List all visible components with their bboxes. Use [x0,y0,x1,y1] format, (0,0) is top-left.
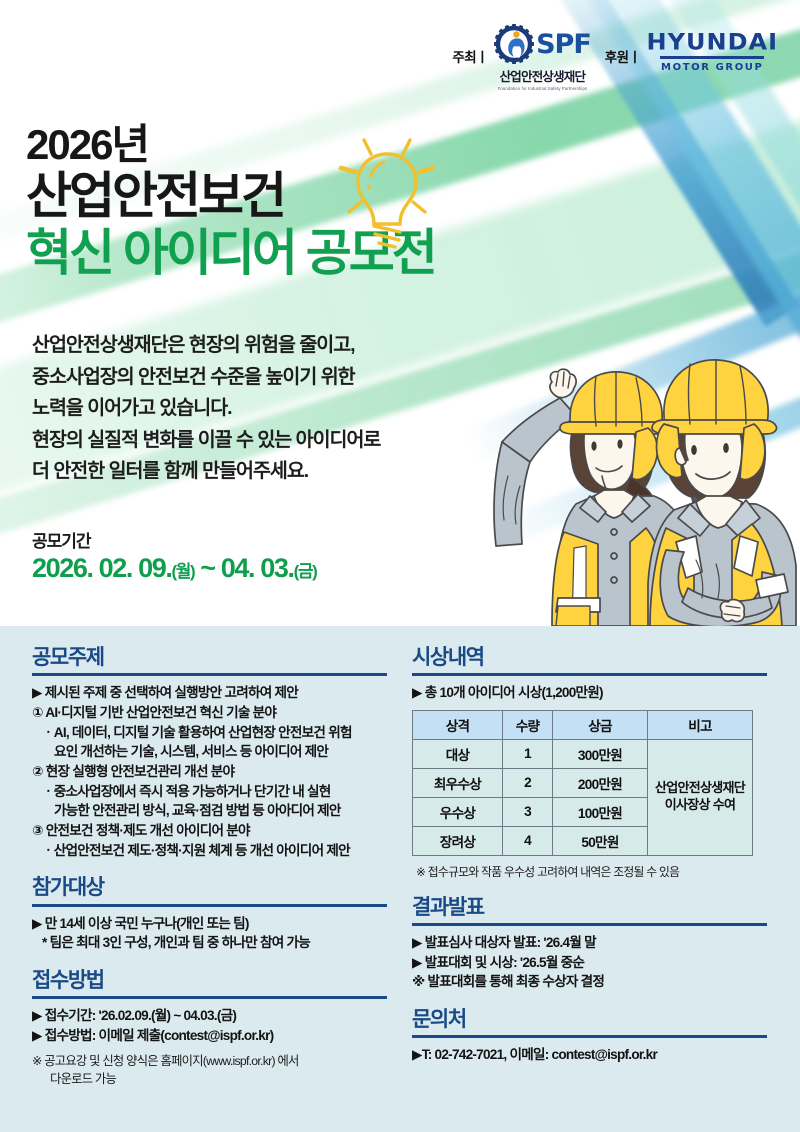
section-results-body: ▶ 발표심사 대상자 발표: '26.4월 말 ▶ 발표대회 및 시상: '26… [412,933,774,992]
section-contact-rule [412,1035,767,1038]
section-application-rule [32,996,387,999]
ispf-person-figure [508,31,524,57]
hyundai-rule [660,56,764,59]
section-contact-heading: 문의처 [412,1008,774,1031]
hyundai-subtitle: MOTOR GROUP [661,62,763,73]
topic-item-1: ① AI·디지털 기반 산업안전보건 혁신 기술 분야 [32,703,392,723]
eligibility-line-2: * 팀은 최대 3인 구성, 개인과 팀 중 하나만 참여 가능 [32,933,392,953]
topic-item-1-sub-2: 요인 개선하는 기술, 시스템, 서비스 등 아이디어 제안 [32,742,392,762]
section-contact: 문의처 ▶T: 02-742-7021, 이메일: contest@ispf.o… [412,1008,774,1065]
section-eligibility-heading: 참가대상 [32,876,392,899]
prize-col-amount: 상금 [553,710,648,739]
period-start-dow: (월) [171,562,194,581]
lead-line-2: 중소사업장의 안전보건 수준을 높이기 위한 [32,362,380,394]
sponsor-logo-group: 후원ㅣ HYUNDAI MOTOR GROUP [605,24,778,73]
hyundai-logo: HYUNDAI MOTOR GROUP [647,24,778,73]
period-start: 2026. 02. 09. [32,553,171,583]
prize-count-4: 4 [503,826,553,855]
prize-grade-3: 우수상 [413,797,503,826]
lead-line-5: 더 안전한 일터를 함께 만들어주세요. [32,456,380,488]
lead-line-3: 노력을 이어가고 있습니다. [32,393,380,425]
eligibility-line-1: ▶ 만 14세 이상 국민 누구나(개인 또는 팀) [32,914,392,934]
section-results: 결과발표 ▶ 발표심사 대상자 발표: '26.4월 말 ▶ 발표대회 및 시상… [412,896,774,992]
section-application-heading: 접수방법 [32,969,392,992]
results-line-3: ※ 발표대회를 통해 최종 수상자 결정 [412,972,774,992]
section-results-heading: 결과발표 [412,896,774,919]
ispf-english-name: Foundation for Industrial Safety Partner… [498,86,588,91]
period-end: 04. 03. [221,553,294,583]
period-date: 2026. 02. 09.(월) ~ 04. 03.(금) [32,553,316,584]
section-topic: 공모주제 ▶ 제시된 주제 중 선택하여 실행방안 고려하여 제안 ① AI·디… [32,646,392,860]
period-tilde: ~ [194,553,221,583]
prize-remark-line-2: 이사장상 수여 [650,797,750,814]
section-eligibility-body: ▶ 만 14세 이상 국민 누구나(개인 또는 팀) * 팀은 최대 3인 구성… [32,914,392,953]
host-logo-group: 주최ㅣ [452,24,590,91]
prize-amount-2: 200만원 [553,768,648,797]
prize-table: 상격 수량 상금 비고 대상 1 300만원 산업안전상생재단 [412,710,753,856]
prize-remark-cell: 산업안전상생재단 이사장상 수여 [648,739,753,855]
topic-item-2-sub-2: 가능한 안전관리 방식, 교육·점검 방법 등 아아디어 제안 [32,801,392,821]
period-end-dow: (금) [294,562,317,581]
prize-col-grade: 상격 [413,710,503,739]
section-application: 접수방법 ▶ 접수기간: '26.02.09.(월) ~ 04.03.(금) ▶… [32,969,392,1088]
section-awards-heading: 시상내역 [412,646,774,669]
lead-paragraph: 산업안전상생재단은 현장의 위험을 줄이고, 중소사업장의 안전보건 수준을 높… [32,330,380,488]
info-column-left: 공모주제 ▶ 제시된 주제 중 선택하여 실행방안 고려하여 제안 ① AI·디… [32,646,392,1088]
prize-count-1: 1 [503,739,553,768]
sponsor-label: 후원ㅣ [605,24,641,66]
section-awards-rule [412,673,767,676]
two-workers-illustration [490,336,800,626]
logo-bar: 주최ㅣ [452,24,778,91]
topic-item-3: ③ 안전보건 정책·제도 개선 아이디어 분야 [32,821,392,841]
results-line-2: ▶ 발표대회 및 시상: '26.5월 중순 [412,953,774,973]
hyundai-wordmark: HYUNDAI [647,31,778,53]
topic-item-2-sub-1: ㆍ중소사업장에서 즉시 적용 가능하거나 단기간 내 실현 [32,782,392,802]
prize-col-count: 수량 [503,710,553,739]
awards-summary: ▶ 총 10개 아이디어 시상(1,200만원) [412,683,774,703]
section-topic-rule [32,673,387,676]
prize-grade-1: 대상 [413,739,503,768]
prize-table-header-row: 상격 수량 상금 비고 [413,710,753,739]
section-topic-body: ▶ 제시된 주제 중 선택하여 실행방안 고려하여 제안 ① AI·디지털 기반… [32,683,392,860]
prize-grade-2: 최우수상 [413,768,503,797]
ispf-logo: SPF 산업안전상생재단 Foundation for Industrial S… [494,24,591,91]
ispf-gear-icon [494,24,534,64]
ispf-korean-name: 산업안전상생재단 [500,66,586,85]
section-eligibility-rule [32,904,387,907]
topic-item-3-sub-1: ㆍ산업안전보건 제도·정책·지원 체계 등 개선 아이디어 제안 [32,841,392,861]
prize-amount-4: 50만원 [553,826,648,855]
table-row: 대상 1 300만원 산업안전상생재단 이사장상 수여 [413,739,753,768]
results-line-1: ▶ 발표심사 대상자 발표: '26.4월 말 [412,933,774,953]
host-label: 주최ㅣ [452,24,488,66]
poster-bottom-section: 공모주제 ▶ 제시된 주제 중 선택하여 실행방안 고려하여 제안 ① AI·디… [0,626,800,1132]
awards-note: ※ 접수규모와 작품 우수성 고려하여 내역은 조정될 수 있음 [412,863,774,880]
prize-count-3: 3 [503,797,553,826]
prize-remark-line-1: 산업안전상생재단 [650,780,750,797]
topic-lead: ▶ 제시된 주제 중 선택하여 실행방안 고려하여 제안 [32,683,392,703]
section-results-rule [412,923,767,926]
contact-line-1: ▶T: 02-742-7021, 이메일: contest@ispf.or.kr [412,1045,774,1065]
prize-amount-3: 100만원 [553,797,648,826]
application-line-2: ▶ 접수방법: 이메일 제출(contest@ispf.or.kr) [32,1026,392,1046]
section-awards: 시상내역 ▶ 총 10개 아이디어 시상(1,200만원) 상격 수량 상금 비… [412,646,774,880]
topic-item-2: ② 현장 실행형 안전보건관리 개선 분야 [32,762,392,782]
prize-count-2: 2 [503,768,553,797]
section-eligibility: 참가대상 ▶ 만 14세 이상 국민 누구나(개인 또는 팀) * 팀은 최대 … [32,876,392,953]
application-line-1: ▶ 접수기간: '26.02.09.(월) ~ 04.03.(금) [32,1006,392,1026]
prize-amount-1: 300만원 [553,739,648,768]
application-note-line-2: 다운로드 가능 [32,1071,392,1088]
ispf-acronym: SPF [536,31,591,58]
topic-item-1-sub-1: ㆍAI, 데이터, 디지털 기술 활용하여 산업현장 안전보건 위험 [32,723,392,743]
application-note-line-1: ※ 공고요강 및 신청 양식은 홈페이지(www.ispf.or.kr) 에서 [32,1054,299,1068]
lead-line-1: 산업안전상생재단은 현장의 위험을 줄이고, [32,330,380,362]
prize-grade-4: 장려상 [413,826,503,855]
prize-col-remark: 비고 [648,710,753,739]
section-application-body: ▶ 접수기간: '26.02.09.(월) ~ 04.03.(금) ▶ 접수방법… [32,1006,392,1045]
lightbulb-icon [333,130,441,260]
info-column-right: 시상내역 ▶ 총 10개 아이디어 시상(1,200만원) 상격 수량 상금 비… [412,646,774,1065]
section-topic-heading: 공모주제 [32,646,392,669]
poster-root: 주최ㅣ [0,0,800,1132]
period-label: 공모기간 [32,527,91,552]
application-note: ※ 공고요강 및 신청 양식은 홈페이지(www.ispf.or.kr) 에서 … [32,1053,392,1087]
lead-line-4: 현장의 실질적 변화를 이끌 수 있는 아이디어로 [32,425,380,457]
poster-top-section: 주최ㅣ [0,0,800,626]
